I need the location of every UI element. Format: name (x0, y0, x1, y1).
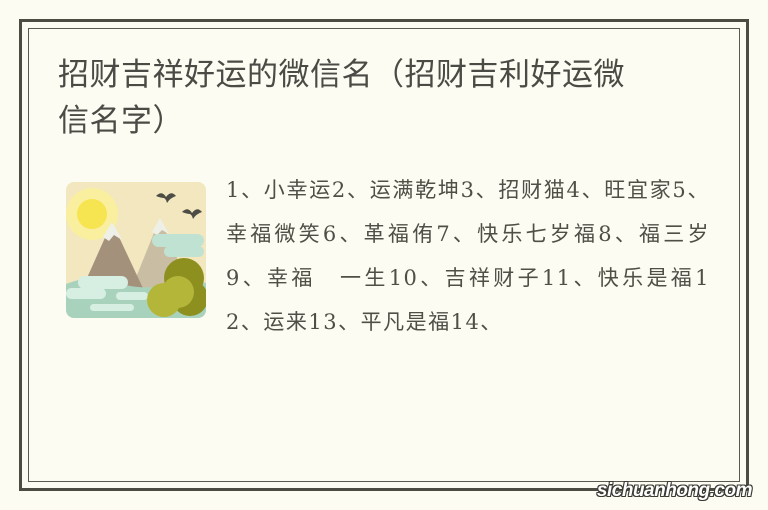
sun-icon (77, 199, 107, 229)
page-title: 招财吉祥好运的微信名（招财吉利好运微信名字） (58, 52, 638, 144)
article-content: 招财吉祥好运的微信名（招财吉利好运微信名字） (22, 22, 746, 488)
article-body: 1、小幸运2、运满乾坤3、招财猫4、旺宜家5、幸福微笑6、革福侑7、快乐七岁福8… (58, 168, 710, 344)
article-frame: 招财吉祥好运的微信名（招财吉利好运微信名字） (19, 19, 749, 491)
thumbnail-image[interactable] (60, 174, 212, 326)
landscape-illustration (60, 174, 212, 326)
site-watermark: sichuanhong.com (597, 480, 752, 502)
article-text: 1、小幸运2、运满乾坤3、招财猫4、旺宜家5、幸福微笑6、革福侑7、快乐七岁福8… (226, 168, 710, 344)
